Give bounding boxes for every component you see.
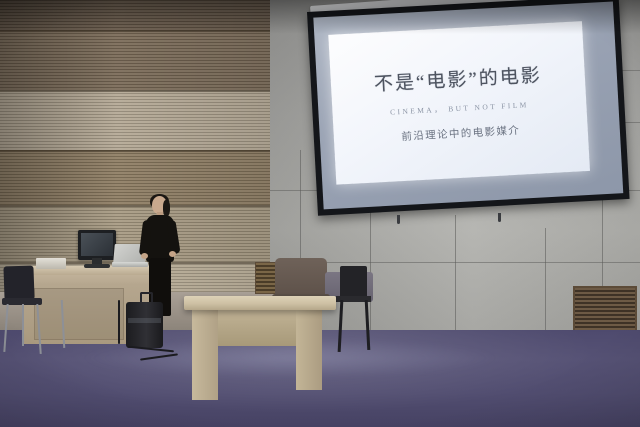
desk-equipment-box bbox=[36, 258, 66, 269]
chair-leg bbox=[22, 304, 24, 346]
desktop-monitor bbox=[78, 230, 116, 260]
suitcase-band bbox=[128, 318, 161, 323]
lecture-hall-photo: 不是“电影”的电影 CINEMA， BUT NOT FILM 前沿理论中的电影媒… bbox=[0, 0, 640, 427]
screen-hook bbox=[397, 215, 400, 224]
side-chair-back bbox=[3, 265, 34, 300]
slide-subtitle-en: CINEMA， BUT NOT FILM bbox=[390, 99, 529, 117]
slide-title: 不是“电影”的电影 bbox=[373, 60, 542, 96]
wooden-table-top bbox=[184, 296, 336, 310]
rolling-suitcase bbox=[126, 302, 163, 348]
wall-seam bbox=[0, 90, 278, 92]
panel-seam bbox=[455, 215, 456, 330]
upholstered-armchair-back bbox=[275, 258, 327, 298]
table-leg-right bbox=[296, 308, 322, 390]
presenter-hair-side bbox=[163, 200, 170, 216]
folding-chair-back bbox=[340, 266, 367, 298]
monitor-base bbox=[84, 264, 110, 268]
monitor-screen bbox=[81, 233, 113, 256]
presenter-left-hand bbox=[141, 253, 148, 259]
slide-subtitle-cn: 前沿理论中的电影媒介 bbox=[401, 123, 521, 144]
table-leg-left bbox=[192, 308, 218, 400]
panel-seam bbox=[370, 200, 371, 330]
wall-seam bbox=[0, 150, 278, 152]
ceiling-shadow bbox=[0, 0, 640, 34]
projector-screen: 不是“电影”的电影 CINEMA， BUT NOT FILM 前沿理论中的电影媒… bbox=[307, 6, 623, 218]
screen-hook bbox=[498, 213, 501, 222]
presentation-slide: 不是“电影”的电影 CINEMA， BUT NOT FILM 前沿理论中的电影媒… bbox=[328, 21, 590, 185]
presenter-right-hand bbox=[169, 251, 176, 257]
table-apron bbox=[216, 308, 298, 346]
wall-cable bbox=[118, 300, 120, 344]
podium-front-panel bbox=[34, 288, 124, 340]
panel-seam bbox=[545, 228, 546, 330]
